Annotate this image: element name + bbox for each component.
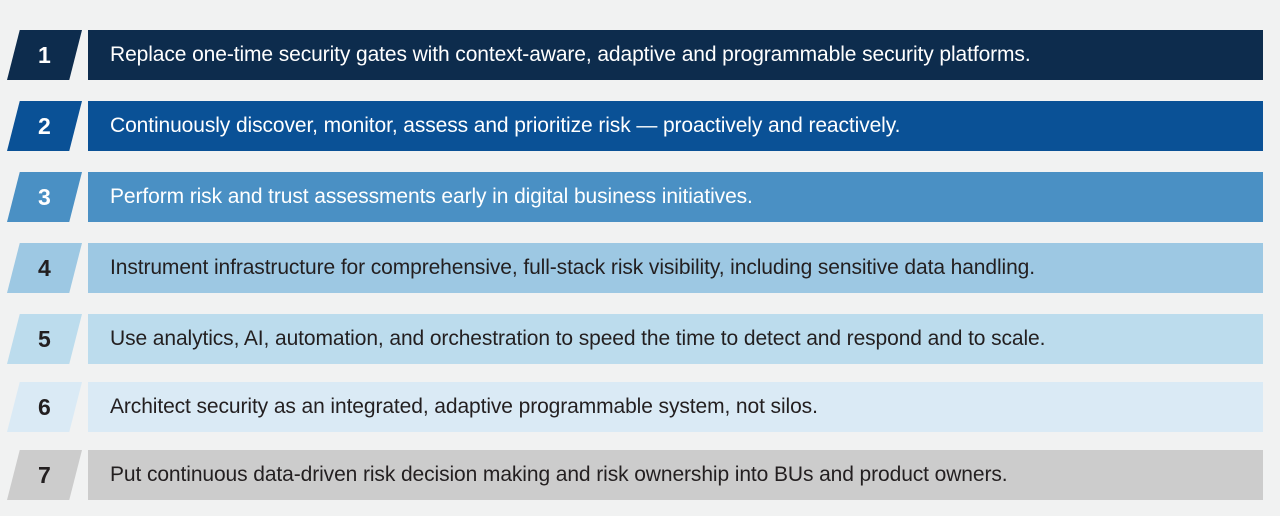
priority-number-badge-4: 4 bbox=[7, 243, 82, 293]
priority-number-7: 7 bbox=[38, 464, 51, 487]
priority-bar-6[interactable]: Architect security as an integrated, ada… bbox=[88, 382, 1263, 432]
priority-row-5[interactable]: 5 Use analytics, AI, automation, and orc… bbox=[0, 314, 1280, 364]
priority-number-5: 5 bbox=[38, 328, 51, 351]
priority-bar-1[interactable]: Replace one-time security gates with con… bbox=[88, 30, 1263, 80]
priority-text-1: Replace one-time security gates with con… bbox=[110, 42, 1031, 68]
priority-number-2: 2 bbox=[38, 115, 51, 138]
priority-text-4: Instrument infrastructure for comprehens… bbox=[110, 255, 1035, 281]
priorities-diagram: 1 Replace one-time security gates with c… bbox=[0, 0, 1280, 516]
priority-number-badge-6: 6 bbox=[7, 382, 82, 432]
priority-number-badge-1: 1 bbox=[7, 30, 82, 80]
priority-text-6: Architect security as an integrated, ada… bbox=[110, 394, 818, 420]
priority-text-7: Put continuous data-driven risk decision… bbox=[110, 462, 1007, 488]
priority-number-4: 4 bbox=[38, 257, 51, 280]
priority-bar-2[interactable]: Continuously discover, monitor, assess a… bbox=[88, 101, 1263, 151]
priority-number-badge-5: 5 bbox=[7, 314, 82, 364]
priority-row-1[interactable]: 1 Replace one-time security gates with c… bbox=[0, 30, 1280, 80]
priority-row-4[interactable]: 4 Instrument infrastructure for comprehe… bbox=[0, 243, 1280, 293]
priority-row-6[interactable]: 6 Architect security as an integrated, a… bbox=[0, 382, 1280, 432]
priority-bar-3[interactable]: Perform risk and trust assessments early… bbox=[88, 172, 1263, 222]
priority-bar-7[interactable]: Put continuous data-driven risk decision… bbox=[88, 450, 1263, 500]
priority-number-3: 3 bbox=[38, 186, 51, 209]
priority-number-badge-7: 7 bbox=[7, 450, 82, 500]
priority-row-7[interactable]: 7 Put continuous data-driven risk decisi… bbox=[0, 450, 1280, 500]
priority-text-3: Perform risk and trust assessments early… bbox=[110, 184, 753, 210]
priority-row-3[interactable]: 3 Perform risk and trust assessments ear… bbox=[0, 172, 1280, 222]
priority-number-badge-2: 2 bbox=[7, 101, 82, 151]
priority-text-2: Continuously discover, monitor, assess a… bbox=[110, 113, 900, 139]
priority-bar-4[interactable]: Instrument infrastructure for comprehens… bbox=[88, 243, 1263, 293]
priority-bar-5[interactable]: Use analytics, AI, automation, and orche… bbox=[88, 314, 1263, 364]
priority-text-5: Use analytics, AI, automation, and orche… bbox=[110, 326, 1045, 352]
priority-number-1: 1 bbox=[38, 44, 51, 67]
priority-number-6: 6 bbox=[38, 396, 51, 419]
priority-row-2[interactable]: 2 Continuously discover, monitor, assess… bbox=[0, 101, 1280, 151]
priority-number-badge-3: 3 bbox=[7, 172, 82, 222]
